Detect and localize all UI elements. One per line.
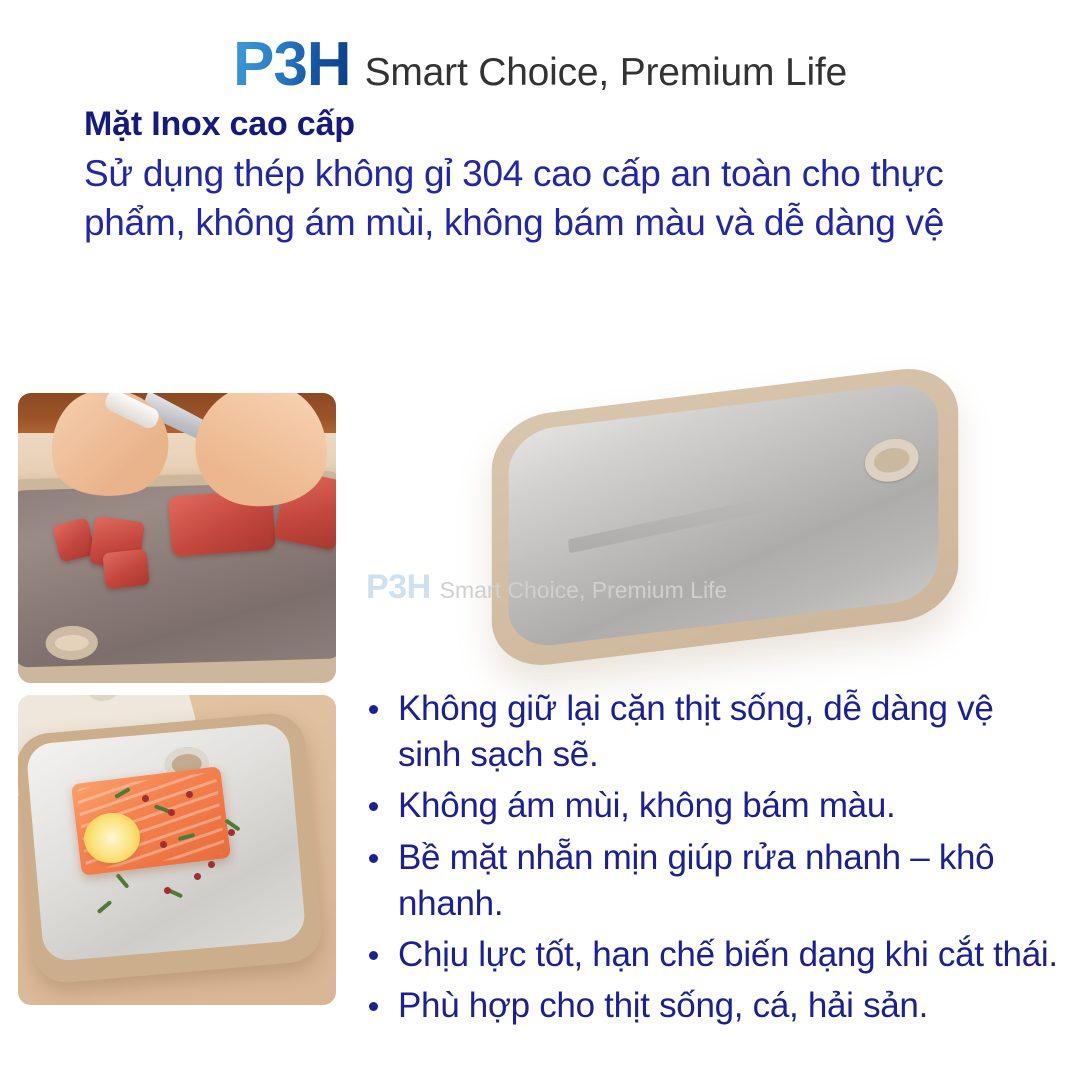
bullet-dot-icon <box>369 705 378 714</box>
feature-text: Phù hợp cho thịt sống, cá, hải sản. <box>398 986 928 1025</box>
peppercorn <box>208 861 215 868</box>
peppercorn <box>164 887 171 894</box>
list-item: Không ám mùi, không bám màu. <box>362 783 1062 829</box>
brand-tagline: Smart Choice, Premium Life <box>365 53 847 92</box>
list-item: Chịu lực tốt, hạn chế biến dạng khi cắt … <box>362 932 1062 978</box>
beef-scene <box>18 393 336 683</box>
peppercorn <box>168 809 175 816</box>
bullet-dot-icon <box>369 1002 378 1011</box>
feature-text: Không ám mùi, không bám màu. <box>398 786 895 825</box>
list-item: Bề mặt nhẵn mịn giúp rửa nhanh – khô nha… <box>362 835 1062 927</box>
list-item: Phù hợp cho thịt sống, cá, hải sản. <box>362 983 1062 1029</box>
beef-cube <box>102 549 150 589</box>
p3h-logo: P3H <box>233 34 351 96</box>
product-infographic-page: P3H Smart Choice, Premium Life Mặt Inox … <box>0 0 1080 1080</box>
second-board-hole <box>85 695 124 705</box>
peppercorn <box>228 829 235 836</box>
feature-text: Bề mặt nhẵn mịn giúp rửa nhanh – khô nha… <box>398 838 994 923</box>
hero-board-steel-surface <box>509 380 939 650</box>
list-item: Không giữ lại cặn thịt sống, dễ dàng vệ … <box>362 686 1062 778</box>
photo-column <box>18 393 336 1005</box>
salmon-fillet-photo <box>18 695 336 1005</box>
feature-text: Chịu lực tốt, hạn chế biến dạng khi cắt … <box>398 935 1058 974</box>
stainless-cutting-board-hero <box>360 300 1060 680</box>
peppercorn <box>186 791 193 798</box>
headline-title: Mặt Inox cao cấp <box>84 104 1024 144</box>
peppercorn <box>160 841 167 848</box>
headline-body: Sử dụng thép không gỉ 304 cao cấp an toà… <box>84 150 1024 248</box>
bullet-dot-icon <box>369 854 378 863</box>
hero-board-body <box>492 362 958 671</box>
cutting-beef-photo <box>18 393 336 683</box>
feature-list: Không giữ lại cặn thịt sống, dễ dàng vệ … <box>362 686 1062 1034</box>
bullet-dot-icon <box>369 802 378 811</box>
brand-header: P3H Smart Choice, Premium Life <box>0 34 1080 96</box>
feature-text: Không giữ lại cặn thịt sống, dễ dàng vệ … <box>398 689 994 774</box>
peppercorn <box>194 873 201 880</box>
salmon-scene <box>18 695 336 1005</box>
peppercorn <box>142 795 149 802</box>
headline-block: Mặt Inox cao cấp Sử dụng thép không gỉ 3… <box>84 104 1024 248</box>
bullet-dot-icon <box>369 951 378 960</box>
hero-board-etched-marking <box>568 496 777 554</box>
